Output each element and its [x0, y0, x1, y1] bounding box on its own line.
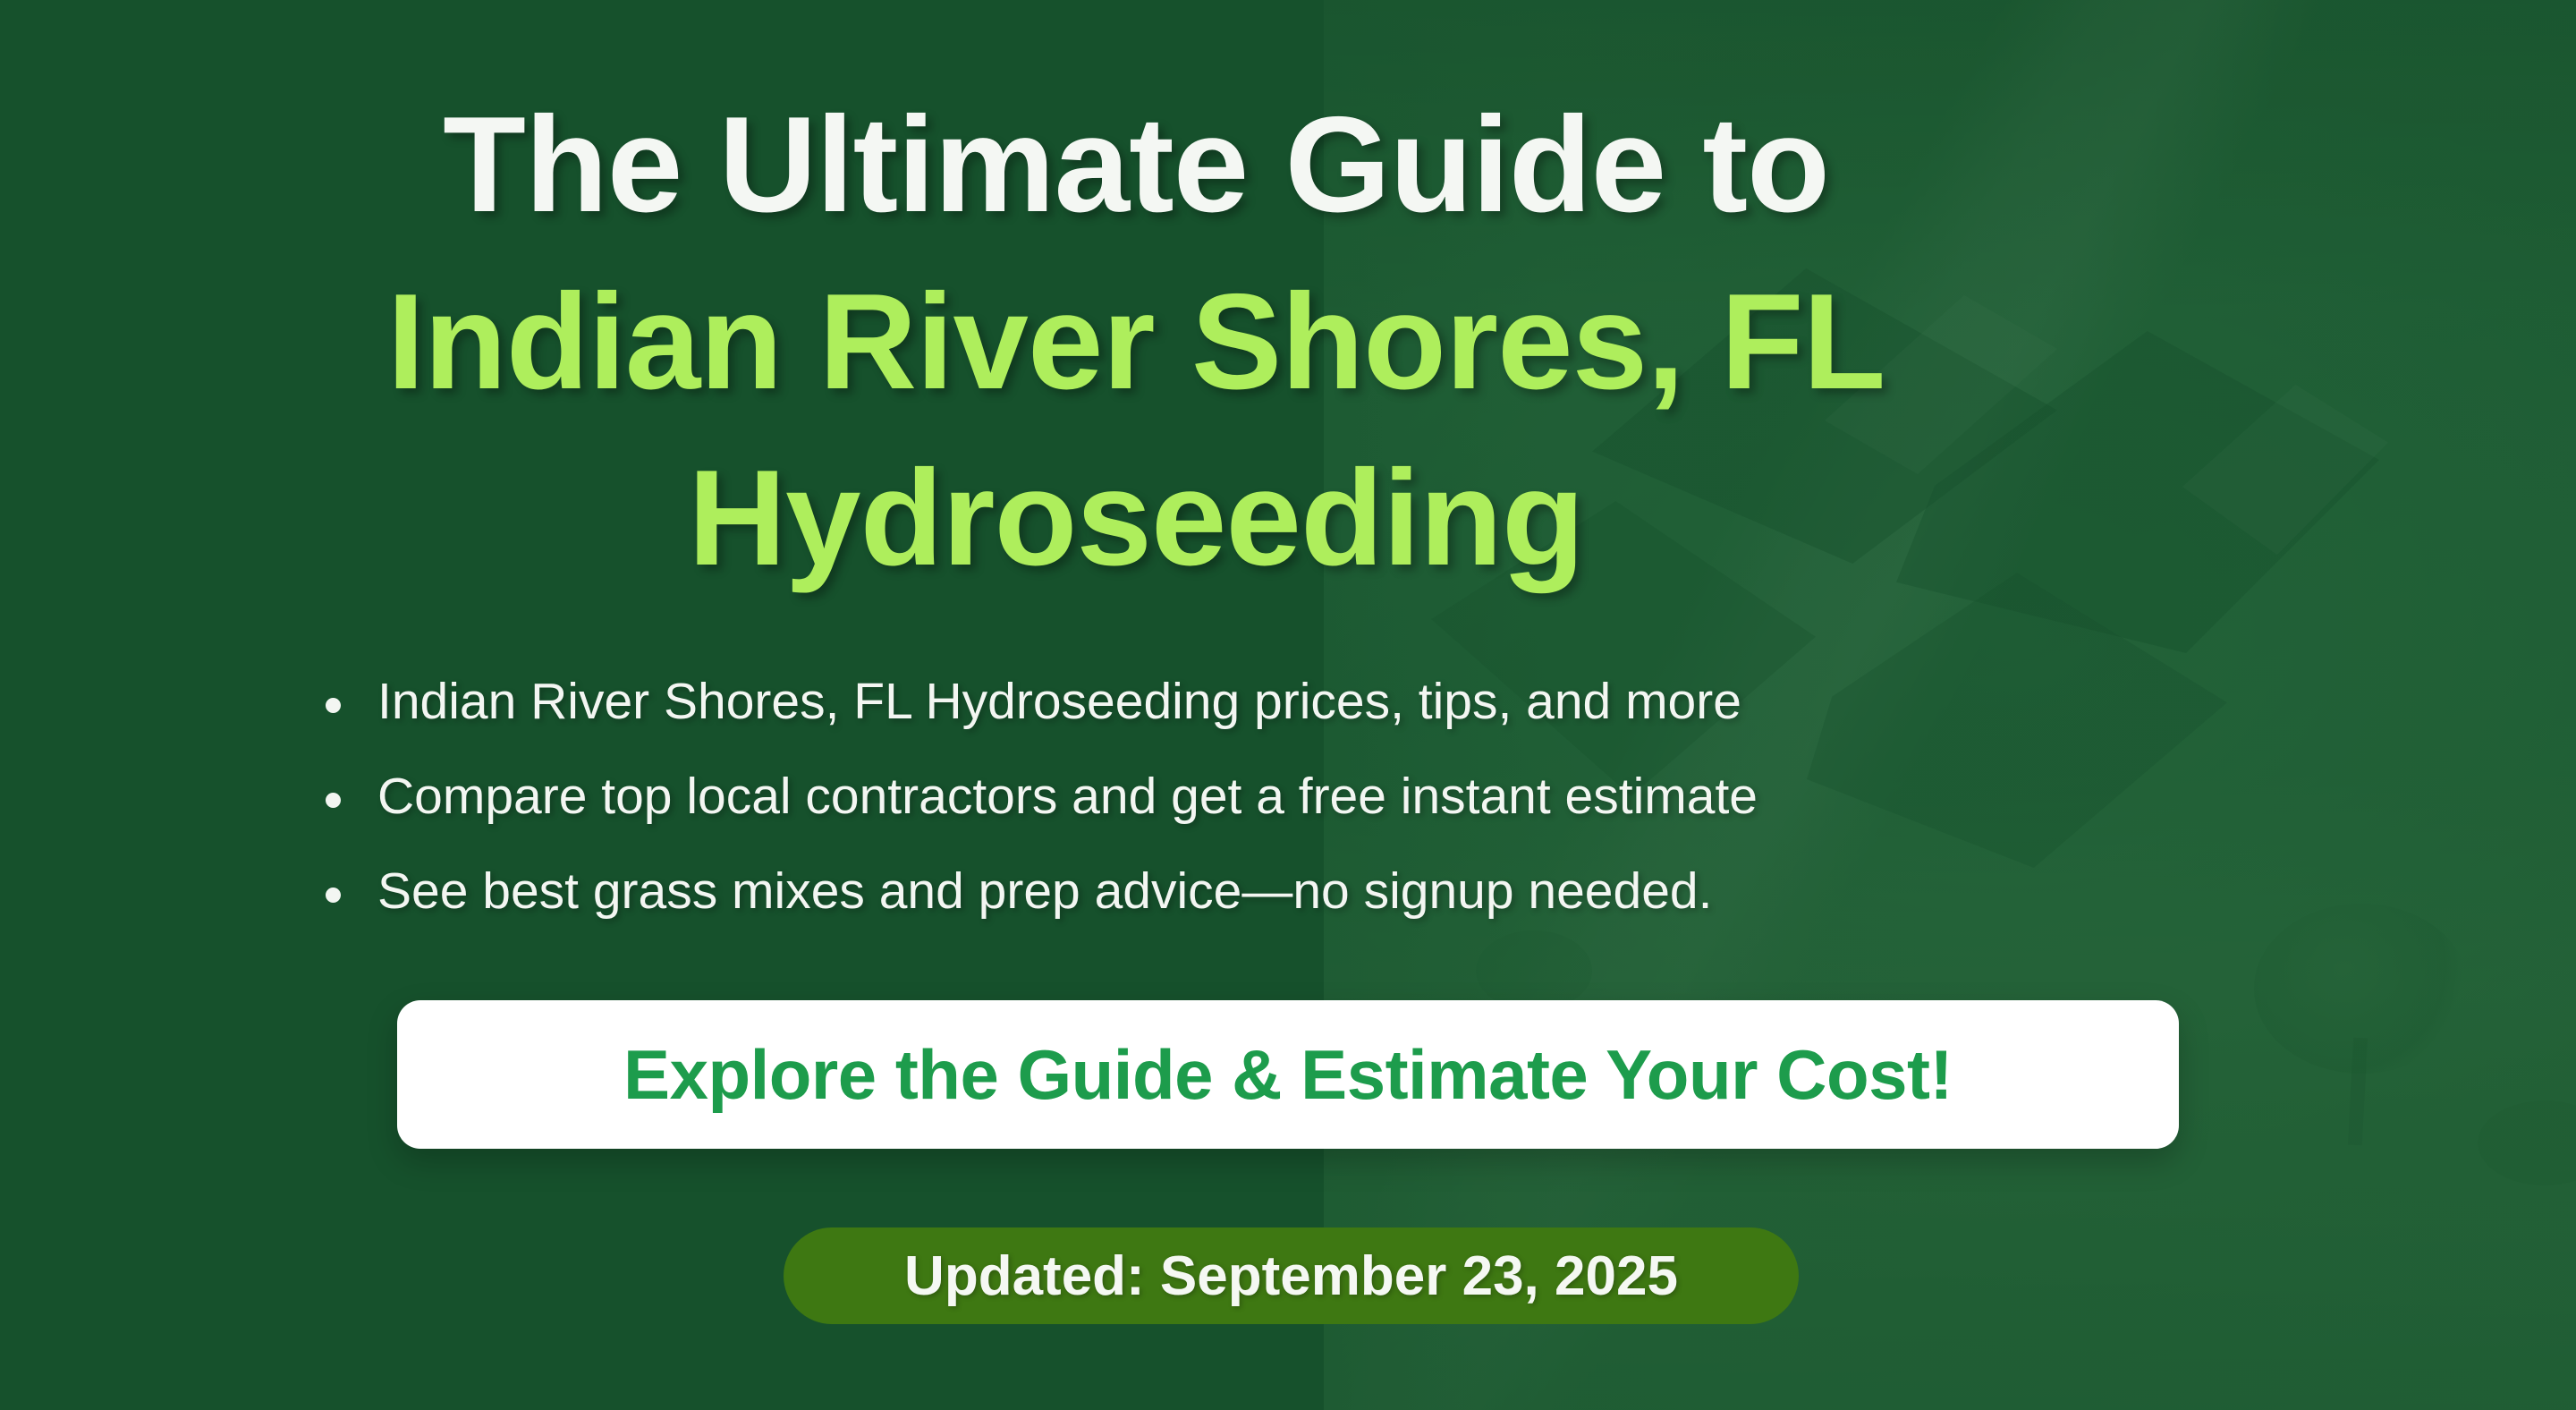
- page-title: The Ultimate Guide to Indian River Shore…: [0, 77, 2272, 607]
- updated-date-badge: Updated: September 23, 2025: [784, 1227, 1799, 1324]
- list-item: Compare top local contractors and get a …: [311, 771, 1758, 822]
- headline-line-1: The Ultimate Guide to: [0, 77, 2272, 254]
- list-item: Indian River Shores, FL Hydroseeding pri…: [311, 676, 1758, 727]
- benefits-list: Indian River Shores, FL Hydroseeding pri…: [311, 676, 1758, 961]
- list-item: See best grass mixes and prep advice—no …: [311, 866, 1758, 917]
- explore-guide-cta-button[interactable]: Explore the Guide & Estimate Your Cost!: [397, 1000, 2179, 1149]
- hero-banner: The Ultimate Guide to Indian River Shore…: [0, 0, 2576, 1410]
- headline-line-3: Hydroseeding: [0, 430, 2272, 607]
- hero-content: The Ultimate Guide to Indian River Shore…: [0, 0, 2576, 1410]
- headline-line-2: Indian River Shores, FL: [0, 254, 2272, 431]
